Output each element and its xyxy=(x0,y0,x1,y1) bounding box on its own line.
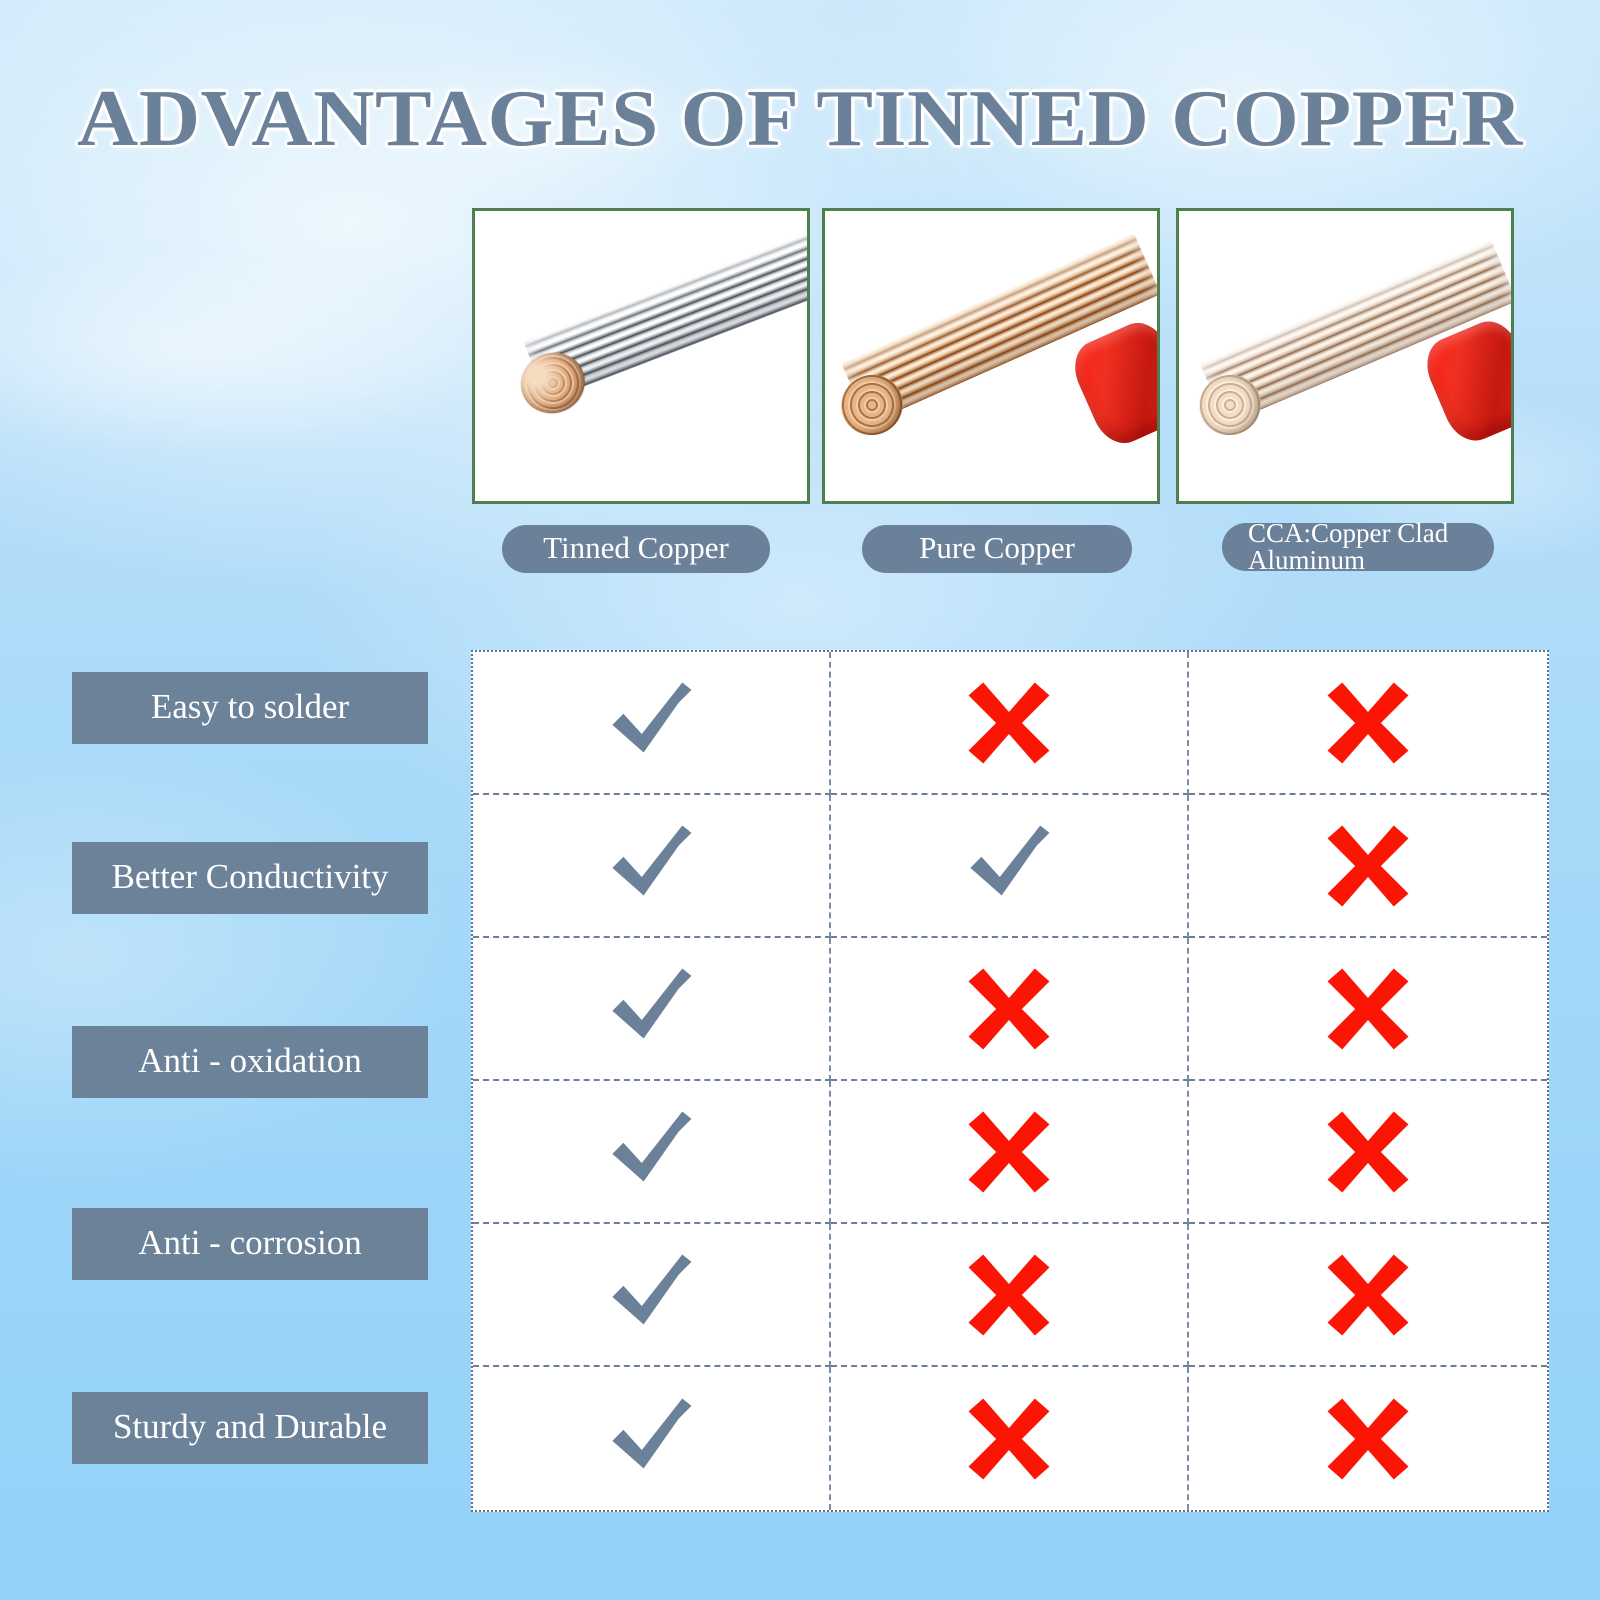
column-label-pure-copper: Pure Copper xyxy=(862,525,1132,573)
row-label-better-conductivity: Better Conductivity xyxy=(72,842,428,914)
table-cell-r6-c1 xyxy=(473,1367,831,1510)
table-cell-r4-c3 xyxy=(1189,1081,1547,1224)
table-cell-r2-c1 xyxy=(473,795,831,938)
page-title: ADVANTAGES OF TINNED COPPER xyxy=(0,74,1600,165)
table-cell-r1-c3 xyxy=(1189,652,1547,795)
table-cell-r1-c2 xyxy=(831,652,1189,795)
table-cell-r3-c2 xyxy=(831,938,1189,1081)
red-insulation-sleeve-icon xyxy=(1065,314,1160,452)
cross-mark-icon xyxy=(963,677,1055,769)
row-label-easy-to-solder: Easy to solder xyxy=(72,672,428,744)
check-mark-icon xyxy=(605,1106,697,1198)
cross-mark-icon xyxy=(963,1249,1055,1341)
check-mark-icon xyxy=(605,963,697,1055)
row-label-sturdy-and-durable: Sturdy and Durable xyxy=(72,1392,428,1464)
column-label-cca-line1: CCA:Copper Clad xyxy=(1248,520,1494,547)
table-cell-r4-c2 xyxy=(831,1081,1189,1224)
row-label-anti-corrosion: Anti - corrosion xyxy=(72,1208,428,1280)
check-mark-icon xyxy=(605,820,697,912)
check-mark-icon xyxy=(963,820,1055,912)
table-cell-r6-c3 xyxy=(1189,1367,1547,1510)
cross-mark-icon xyxy=(963,1106,1055,1198)
infographic-page: ADVANTAGES OF TINNED COPPER Tinned Coppe… xyxy=(0,0,1600,1600)
cross-mark-icon xyxy=(963,963,1055,1055)
comparison-table xyxy=(471,650,1549,1512)
cross-mark-icon xyxy=(1322,1393,1414,1485)
table-cell-r4-c1 xyxy=(473,1081,831,1224)
table-cell-r3-c1 xyxy=(473,938,831,1081)
table-cell-r2-c2 xyxy=(831,795,1189,938)
table-cell-r3-c3 xyxy=(1189,938,1547,1081)
table-cell-r5-c1 xyxy=(473,1224,831,1367)
cross-mark-icon xyxy=(963,1393,1055,1485)
column-label-cca-line2: Aluminum xyxy=(1248,547,1494,574)
check-mark-icon xyxy=(605,1249,697,1341)
column-label-cca: CCA:Copper Clad Aluminum xyxy=(1222,523,1494,571)
cross-mark-icon xyxy=(1322,820,1414,912)
check-mark-icon xyxy=(605,677,697,769)
product-photo-cca xyxy=(1176,208,1514,504)
cross-mark-icon xyxy=(1322,1106,1414,1198)
table-cell-r5-c3 xyxy=(1189,1224,1547,1367)
table-cell-r1-c1 xyxy=(473,652,831,795)
column-label-tinned-copper: Tinned Copper xyxy=(502,525,770,573)
table-cell-r6-c2 xyxy=(831,1367,1189,1510)
row-label-anti-oxidation: Anti - oxidation xyxy=(72,1026,428,1098)
product-photo-tinned-copper xyxy=(472,208,810,504)
cross-mark-icon xyxy=(1322,963,1414,1055)
cross-mark-icon xyxy=(1322,677,1414,769)
table-cell-r2-c3 xyxy=(1189,795,1547,938)
check-mark-icon xyxy=(605,1393,697,1485)
product-photo-pure-copper xyxy=(822,208,1160,504)
cross-mark-icon xyxy=(1322,1249,1414,1341)
table-cell-r5-c2 xyxy=(831,1224,1189,1367)
